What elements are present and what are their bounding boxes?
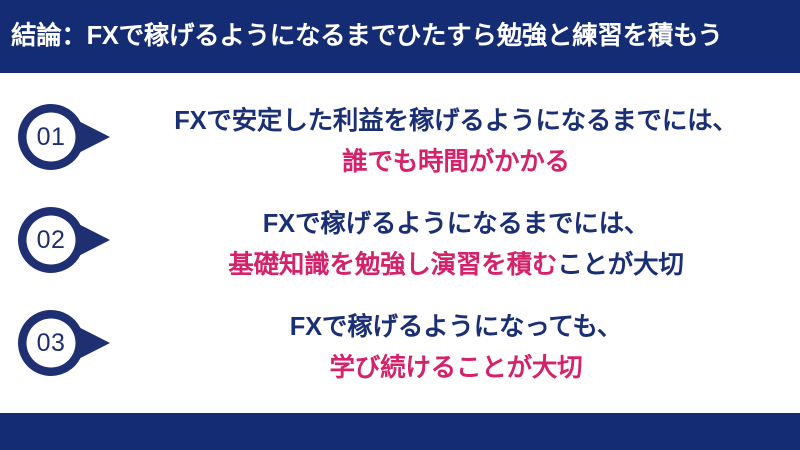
- list-item-line-1: FXで安定した利益を稼げるようになるまでには、: [174, 101, 738, 142]
- list-item: 01 FXで安定した利益を稼げるようになるまでには、 誰でも時間がかかる: [0, 101, 800, 191]
- line-segment-emphasis: 基礎知識を勉強し演習を積む: [228, 251, 557, 279]
- footer-bar: [0, 413, 800, 450]
- badge-number-label: 03: [18, 310, 84, 376]
- line-segment-tail: ことが大切: [557, 251, 684, 279]
- list-item-line-2: 基礎知識を勉強し演習を積むことが大切: [228, 245, 683, 286]
- list-item-text: FXで稼げるようになるまでには、 基礎知識を勉強し演習を積むことが大切: [120, 204, 792, 294]
- number-badge-pin-icon: 03: [18, 310, 112, 376]
- list-item-line-1: FXで稼げるようになっても、: [290, 307, 622, 348]
- page-title: 結論：FXで稼げるようになるまでひたすら勉強と練習を積もう: [11, 22, 723, 50]
- list-item-text: FXで安定した利益を稼げるようになるまでには、 誰でも時間がかかる: [120, 101, 792, 191]
- list-item-line-2: 学び続けることが大切: [329, 348, 582, 389]
- header-bar: 結論：FXで稼げるようになるまでひたすら勉強と練習を積もう: [0, 0, 800, 73]
- badge-number-label: 01: [18, 104, 84, 170]
- points-list: 01 FXで安定した利益を稼げるようになるまでには、 誰でも時間がかかる 02 …: [0, 73, 800, 413]
- list-item-line-2: 誰でも時間がかかる: [342, 142, 570, 183]
- list-item: 03 FXで稼げるようになっても、 学び続けることが大切: [0, 307, 800, 397]
- list-item: 02 FXで稼げるようになるまでには、 基礎知識を勉強し演習を積むことが大切: [0, 204, 800, 294]
- slide-canvas: 結論：FXで稼げるようになるまでひたすら勉強と練習を積もう 01 FXで安定した…: [0, 0, 800, 450]
- list-item-text: FXで稼げるようになっても、 学び続けることが大切: [120, 307, 792, 397]
- list-item-line-1: FXで稼げるようになるまでには、: [263, 204, 649, 245]
- number-badge-pin-icon: 02: [18, 207, 112, 273]
- number-badge-pin-icon: 01: [18, 104, 112, 170]
- badge-number-label: 02: [18, 207, 84, 273]
